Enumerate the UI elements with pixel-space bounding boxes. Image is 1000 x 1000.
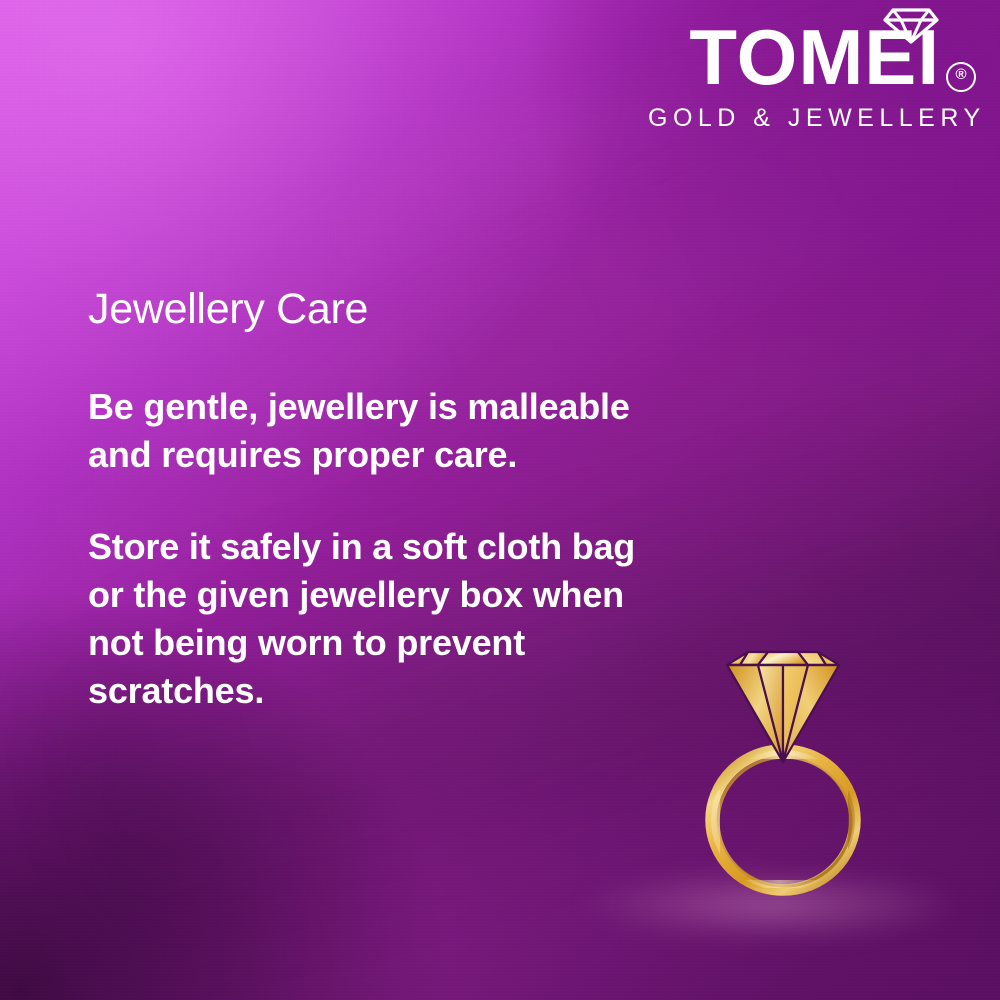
page-title: Jewellery Care <box>88 288 688 331</box>
gold-band <box>708 750 860 890</box>
brand-wordmark-row: TOMEI ® <box>648 16 978 98</box>
brand-logo: TOMEI ® GOLD & JEWELLERY <box>648 16 978 133</box>
diamond-gem <box>727 652 839 762</box>
copy-block: Jewellery Care Be gentle, jewellery is m… <box>88 288 688 715</box>
poster-canvas: TOMEI ® GOLD & JEWELLERY Jewellery Care … <box>0 0 1000 1000</box>
brand-tagline: GOLD & JEWELLERY <box>648 104 978 133</box>
care-paragraph-1: Be gentle, jewellery is malleable and re… <box>88 383 648 479</box>
care-paragraph-2: Store it safely in a soft cloth bag or t… <box>88 523 648 715</box>
registered-trademark-icon: ® <box>946 62 976 92</box>
diamond-outline-icon <box>882 7 940 45</box>
diamond-ring-illustration <box>700 640 875 900</box>
